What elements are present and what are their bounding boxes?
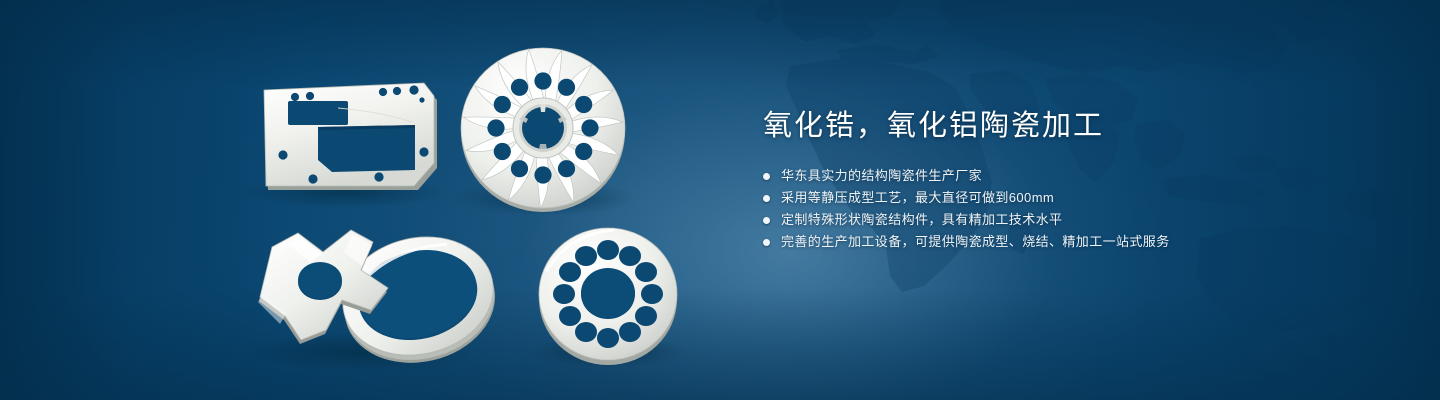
feature-text: 完善的生产加工设备，可提供陶瓷成型、烧结、精加工一站式服务: [781, 231, 1170, 253]
feature-text: 定制特殊形状陶瓷结构件，具有精加工技术水平: [781, 209, 1062, 231]
list-item: 华东具实力的结构陶瓷件生产厂家: [763, 165, 1383, 187]
hero-banner: 氧化锆，氧化铝陶瓷加工 华东具实力的结构陶瓷件生产厂家 采用等静压成型工艺，最大…: [0, 0, 1440, 400]
list-item: 定制特殊形状陶瓷结构件，具有精加工技术水平: [763, 209, 1383, 231]
bullet-dot-icon: [763, 239, 770, 246]
bullet-dot-icon: [763, 173, 770, 180]
product-images-group: [0, 0, 740, 400]
page-title: 氧化锆，氧化铝陶瓷加工: [763, 104, 1383, 148]
bullet-dot-icon: [763, 195, 770, 202]
feature-text: 采用等静压成型工艺，最大直径可做到600mm: [781, 187, 1054, 209]
banner-copy: 氧化锆，氧化铝陶瓷加工 华东具实力的结构陶瓷件生产厂家 采用等静压成型工艺，最大…: [763, 104, 1383, 253]
ceramic-machined-plate: [264, 83, 437, 190]
feature-text: 华东具实力的结构陶瓷件生产厂家: [781, 165, 982, 187]
ceramic-impeller-disc: [461, 48, 625, 212]
bullet-dot-icon: [763, 217, 770, 224]
list-item: 采用等静压成型工艺，最大直径可做到600mm: [763, 187, 1383, 209]
ceramic-perforated-disc: [539, 228, 677, 365]
feature-list: 华东具实力的结构陶瓷件生产厂家 采用等静压成型工艺，最大直径可做到600mm 定…: [763, 165, 1383, 253]
list-item: 完善的生产加工设备，可提供陶瓷成型、烧结、精加工一站式服务: [763, 231, 1383, 253]
